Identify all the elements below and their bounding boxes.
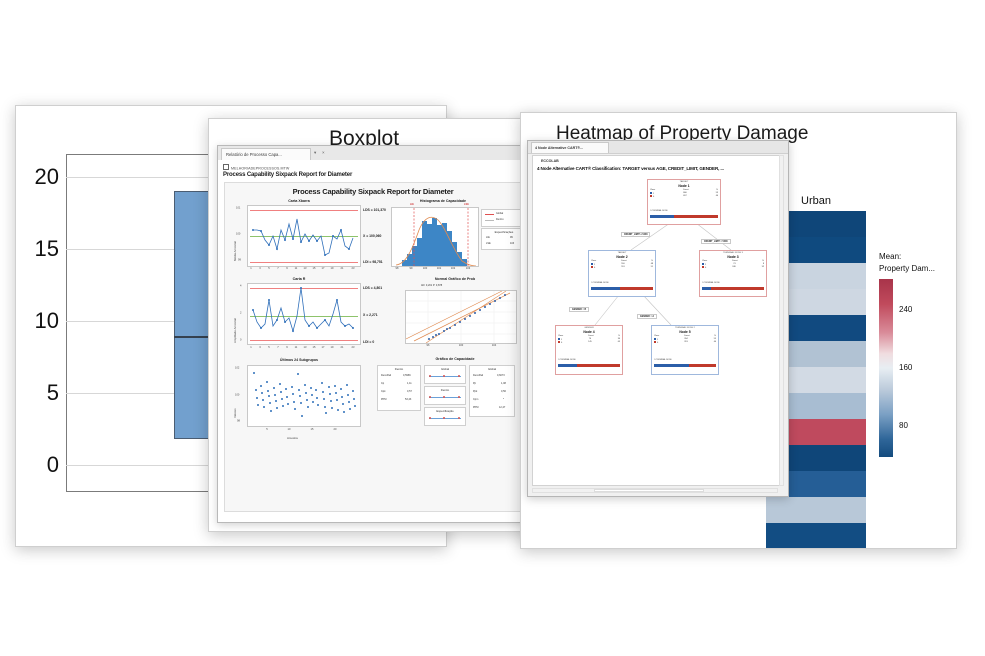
- spec-lie-value: 99: [510, 236, 513, 239]
- xbar-ytick-99: 99: [238, 259, 241, 262]
- xbar-xtick-19: 19: [331, 267, 334, 270]
- dentro-marker-hi: [458, 396, 460, 398]
- cart-node-3-bar: [702, 287, 764, 290]
- within-sd-value: 0,5966: [403, 374, 411, 377]
- global-sd-label: DesvPad: [473, 374, 483, 377]
- dentro-marker-lo: [429, 396, 431, 398]
- cart-node-3-terminal-label: % TERMINAL NODE: [702, 282, 720, 284]
- xbar-xtick-5: 5: [268, 267, 269, 270]
- rchart-ytick-0: 0: [240, 339, 241, 342]
- cart-node-4[interactable]: GENDER Node 4 ClassCount% 17634 014565 %…: [555, 325, 623, 375]
- global-ppm-label: PPM: [473, 406, 478, 409]
- heatmap-legend-colorbar: [879, 279, 893, 457]
- xbar-center-label: X = 100,060: [363, 234, 381, 238]
- rchart-xtick-7: 7: [277, 346, 278, 349]
- cart-node-5-r0-class: 1: [657, 339, 658, 341]
- global-cpm-label: Cpm: [473, 398, 478, 401]
- y-tick-5: 5: [47, 380, 59, 406]
- xbar-ytick-101: 101: [236, 207, 240, 210]
- global-marker-lo-1: [429, 375, 431, 377]
- lastsub-ylabel: Valores: [233, 408, 237, 418]
- probplot-plot[interactable]: [405, 290, 517, 344]
- histogram-marker-lse: LSE: [464, 203, 469, 206]
- cart-node-5-r1-count: 313: [684, 341, 687, 345]
- spec-lse-label: LSE: [486, 242, 491, 245]
- hist-xtick-99: 99: [410, 267, 413, 270]
- within-ppm-label: PPM: [381, 398, 386, 401]
- global-ppm-value: 12,47: [499, 406, 505, 409]
- within-ppm-value: 53,43: [405, 398, 411, 401]
- global-ppk-value: 0,56: [501, 390, 506, 393]
- xbar-ylabel: Média Amostral: [233, 241, 237, 261]
- cart-node-3-r1-count: 246: [732, 266, 735, 270]
- hist-xtick-102: 102: [451, 267, 455, 270]
- lastsub-ytick-102: 102: [235, 367, 239, 370]
- card-heatmap[interactable]: Heatmap of Property Damage Urban Mean: P…: [520, 112, 957, 549]
- global-sd-value: 0,6073: [497, 374, 505, 377]
- global-title-2: Global: [470, 367, 514, 371]
- cart-split-label-4: GENDER = A: [637, 314, 657, 319]
- y-tick-10: 10: [35, 308, 59, 334]
- cart-node-2-r0-class: 1: [594, 264, 595, 266]
- cart-node-5-caption: TERMINAL NODE 2: [652, 327, 718, 329]
- spec-lse-value: 103: [510, 242, 514, 245]
- xbar-xtick-15: 15: [313, 267, 316, 270]
- cart-node-3-name: Node 3: [700, 255, 766, 259]
- rchart-xtick-17: 17: [322, 346, 325, 349]
- cart-node-2-r1-class: 0: [594, 267, 595, 269]
- cart-tabbar: 4 Node Alternative CART®...: [528, 141, 788, 154]
- cart-node-2-bar: [591, 287, 653, 290]
- rchart-xtick-21: 21: [341, 346, 344, 349]
- rchart-ytick-2: 2: [240, 312, 241, 315]
- prob-xtick-100: 100: [459, 344, 463, 347]
- xbar-xtick-17: 17: [322, 267, 325, 270]
- rchart-series: [248, 284, 360, 344]
- capability-within-box: Dentro DesvPad 0,5966 Cp 1,11 Cpk 0,57 P…: [377, 365, 421, 411]
- worksheet-icon: [223, 164, 229, 170]
- capability-global-box-1: Global: [424, 365, 466, 384]
- within-title: Dentro: [378, 367, 420, 371]
- rchart-xtick-5: 5: [268, 346, 269, 349]
- cart-node-4-r1-count: 145: [588, 341, 591, 345]
- rchart-xtick-11: 11: [295, 346, 298, 349]
- rchart-xtick-23: 23: [352, 346, 355, 349]
- rchart-xtick-3: 3: [259, 346, 260, 349]
- spec-bar: [429, 418, 461, 419]
- cart-split-label-1: CREDIT_LIMIT ≤ 5448: [621, 232, 650, 237]
- rchart-xtick-15: 15: [313, 346, 316, 349]
- lastsub-points: [248, 366, 360, 426]
- rchart-xtick-1: 1: [250, 346, 251, 349]
- cart-node-4-r1-class: 0: [561, 342, 562, 344]
- rchart-lcl-label: LDI = 0: [363, 340, 374, 344]
- lastsub-plot[interactable]: [247, 365, 361, 427]
- rchart-plot[interactable]: [247, 283, 361, 345]
- hist-xtick-101: 101: [437, 267, 441, 270]
- probplot-subtitle: AD: 0,201 P: 0,878: [421, 284, 442, 287]
- dentro-bar: [429, 397, 461, 398]
- rchart-center-label: X = 2,271: [363, 313, 378, 317]
- dentro-title: Dentro: [425, 388, 465, 392]
- legend-swatch-global: [485, 214, 494, 215]
- xbar-lcl-label: LDI = 98,751: [363, 260, 383, 264]
- capability-spec-title: Especificação: [425, 409, 465, 413]
- histogram-title: Histograma de Capacidade: [383, 199, 503, 203]
- cart-node-1-caption: TARGET: [648, 181, 720, 183]
- xbar-xtick-13: 13: [304, 267, 307, 270]
- cart-split-label-2: CREDIT_LIMIT > 5448: [701, 239, 731, 244]
- y-tick-20: 20: [35, 164, 59, 190]
- spec-lie-label: LIE: [486, 236, 490, 239]
- hist-xtick-100: 100: [423, 267, 427, 270]
- cart-node-2-r1-pct: 51: [651, 266, 653, 270]
- cart-node-2-terminal-label: % TERMINAL NODE: [591, 282, 609, 284]
- heatmap-legend-title-line2: Property Dam...: [879, 263, 935, 274]
- cart-vertical-scrollbar[interactable]: [779, 155, 784, 486]
- cart-node-3-r1-pct: 92: [762, 266, 764, 270]
- prob-xtick-104: 104: [492, 344, 496, 347]
- capability-global-box-2: Global DesvPad 0,6073 Pp 1,08 Ppk 0,56 C…: [469, 365, 515, 417]
- xbar-xtick-1: 1: [250, 267, 251, 270]
- y-tick-0: 0: [47, 452, 59, 478]
- cart-dataset-label: ECCOLAB: [541, 159, 559, 163]
- xbar-xtick-23: 23: [352, 267, 355, 270]
- spec-marker-lo: [429, 417, 431, 419]
- lastsub-ytick-100: 100: [235, 394, 239, 397]
- cart-node-3[interactable]: TERMINAL NODE 3 Node 3 ClassCount% 1218 …: [699, 250, 767, 297]
- probplot-title: Normal Gráfico de Prob: [395, 277, 515, 281]
- legend-swatch-dentro: [485, 220, 494, 221]
- heatmap-legend-tick-240: 240: [899, 305, 912, 314]
- tab-process-report[interactable]: Relatório de Processo Capa...: [221, 148, 311, 161]
- rchart-ylabel: Amplitude Amostral: [233, 318, 237, 343]
- xbar-xtick-11: 11: [295, 267, 298, 270]
- heatmap-legend-tick-80: 80: [899, 421, 908, 430]
- global-cpm-value: *: [503, 398, 504, 401]
- cart-node-4-caption: GENDER: [556, 327, 622, 329]
- cart-node-1[interactable]: TARGET Node 1 ClassCount% 180053 069746 …: [647, 179, 721, 225]
- dentro-marker-mid: [443, 396, 445, 398]
- cart-node-5[interactable]: TERMINAL NODE 2 Node 5 ClassCount% 13945…: [651, 325, 719, 375]
- cart-node-3-table: ClassCount% 1218 024692: [702, 260, 764, 270]
- cart-node-3-r0-class: 1: [705, 264, 706, 266]
- global-bar-1: [429, 376, 461, 377]
- global-pp-label: Pp: [473, 382, 476, 385]
- global-ppk-label: Ppk: [473, 390, 477, 393]
- tab-caret-icon[interactable]: ▾: [314, 150, 316, 156]
- lastsub-title: Últimos 24 Subgrupos: [239, 358, 359, 362]
- report-heading: Process Capability Sixpack Report for Di…: [223, 172, 352, 178]
- cart-node-3-caption: TERMINAL NODE 3: [700, 252, 766, 254]
- xbar-title: Carta Xbarra: [239, 199, 359, 203]
- cart-node-5-table: ClassCount% 139455 031344: [654, 335, 716, 345]
- cart-node-2-caption: TARGET: [589, 252, 655, 254]
- heatmap-cell-12[interactable]: [766, 497, 866, 523]
- cart-split-label-3: GENDER = B: [569, 307, 589, 312]
- spec-marker-mid: [443, 417, 445, 419]
- sixpack-panel-title: Process Capability Sixpack Report for Di…: [225, 187, 521, 196]
- probplot-series: [406, 291, 516, 343]
- cart-node-4-bar: [558, 364, 620, 367]
- histogram-bars: [392, 208, 478, 266]
- cart-node-4-terminal-label: % TERMINAL NODE: [558, 359, 576, 361]
- cart-node-1-r0-class: 1: [653, 193, 654, 195]
- cart-node-2-name: Node 2: [589, 255, 655, 259]
- cart-document[interactable]: ECCOLAB 4 Node Alternative CART® Classif…: [532, 155, 784, 486]
- cart-node-4-table: ClassCount% 17634 014565: [558, 335, 620, 345]
- cart-window[interactable]: 4 Node Alternative CART®... ECCOLAB 4 No…: [527, 140, 789, 497]
- cart-node-4-name: Node 4: [556, 330, 622, 334]
- global-title-1: Global: [425, 367, 465, 371]
- heatmap-legend-title-line1: Mean:: [879, 251, 901, 262]
- cart-node-5-name: Node 5: [652, 330, 718, 334]
- global-pp-value: 1,08: [501, 382, 506, 385]
- xbar-xtick-7: 7: [277, 267, 278, 270]
- legend-label-global: Global: [496, 212, 503, 215]
- within-cpk-label: Cpk: [381, 390, 385, 393]
- lastsub-ytick-98: 98: [237, 420, 240, 423]
- within-cpk-value: 0,57: [407, 390, 412, 393]
- cart-horizontal-scrollbar[interactable]: [532, 488, 778, 493]
- histogram-marker-lie: LIE: [410, 203, 414, 206]
- cart-node-1-r1-class: 0: [653, 196, 654, 198]
- heatmap-cell-13[interactable]: [766, 523, 866, 549]
- cart-tree-canvas[interactable]: TARGET Node 1 ClassCount% 180053 069746 …: [533, 175, 783, 485]
- lastsub-xtick-5: 5: [266, 428, 267, 431]
- hist-xtick-103: 103: [466, 267, 470, 270]
- cart-node-4-r0-class: 1: [561, 339, 562, 341]
- prob-xtick-96: 96: [427, 344, 430, 347]
- lastsub-xtick-15: 15: [311, 428, 314, 431]
- global-marker-hi-1: [458, 375, 460, 377]
- xbar-xtick-9: 9: [286, 267, 287, 270]
- cart-node-1-r1-pct: 46: [716, 195, 718, 199]
- xbar-series: [248, 206, 360, 266]
- worksheet-row: MELHORIADEPROCESSOS.MTW: [223, 164, 289, 171]
- card-minitab-report[interactable]: Boxplot Relatório de Processo Capa... ▾ …: [208, 118, 540, 532]
- histogram-plot[interactable]: [391, 207, 479, 267]
- global-marker-mid-1: [443, 375, 445, 377]
- xbar-xtick-3: 3: [259, 267, 260, 270]
- capability-spec-box: Especificação: [424, 407, 466, 426]
- xbar-ucl-label: LDS = 101,370: [363, 208, 386, 212]
- within-cp-value: 1,11: [407, 382, 412, 385]
- within-cp-label: Cp: [381, 382, 384, 385]
- cart-node-1-terminal-label: % TERMINAL NODE: [650, 210, 668, 212]
- slide-canvas: Boxplot 0 5 10 15 20 1 Boxplot: [0, 0, 985, 656]
- hist-xtick-98: 98: [396, 267, 399, 270]
- cart-heading: 4 Node Alternative CART® Classification:…: [537, 166, 724, 171]
- xbar-xtick-21: 21: [341, 267, 344, 270]
- cart-node-5-r1-pct: 44: [714, 341, 716, 345]
- cart-node-2-r1-count: 551: [621, 266, 624, 270]
- capability-dentro-box: Dentro: [424, 386, 466, 405]
- minitab-document[interactable]: MELHORIADEPROCESSOS.MTW Process Capabili…: [218, 160, 528, 522]
- capability-title: Gráfico de Capacidade: [395, 357, 515, 361]
- rchart-xtick-19: 19: [331, 346, 334, 349]
- cart-node-1-bar: [650, 215, 718, 218]
- cart-node-1-name: Node 1: [648, 184, 720, 188]
- tab-cart-classification[interactable]: 4 Node Alternative CART®...: [531, 142, 609, 153]
- sixpack-panel: Process Capability Sixpack Report for Di…: [224, 182, 522, 512]
- cart-node-5-r1-class: 0: [657, 342, 658, 344]
- cart-node-5-terminal-label: % TERMINAL NODE: [654, 359, 672, 361]
- rchart-ytick-4: 4: [240, 285, 241, 288]
- worksheet-name: MELHORIADEPROCESSOS.MTW: [231, 167, 289, 171]
- cart-node-5-bar: [654, 364, 716, 367]
- lastsub-xtick-20: 20: [334, 428, 337, 431]
- xbar-ytick-100: 100: [236, 233, 240, 236]
- lastsub-xlabel: Amostra: [287, 436, 298, 440]
- rchart-xtick-9: 9: [286, 346, 287, 349]
- rchart-ucl-label: LDS = 4,801: [363, 286, 382, 290]
- cart-node-2-table: ClassCount% 151048 055151: [591, 260, 653, 270]
- legend-label-dentro: Dentro: [496, 218, 504, 221]
- spec-marker-hi: [458, 417, 460, 419]
- xbar-plot[interactable]: [247, 205, 361, 267]
- cart-node-3-r1-class: 0: [705, 267, 706, 269]
- y-tick-15: 15: [35, 236, 59, 262]
- rchart-xtick-13: 13: [304, 346, 307, 349]
- cart-node-1-r1-count: 697: [683, 195, 686, 199]
- lastsub-xtick-10: 10: [288, 428, 291, 431]
- cart-node-2[interactable]: TARGET Node 2 ClassCount% 151048 055151 …: [588, 250, 656, 297]
- cart-node-4-r1-pct: 65: [618, 341, 620, 345]
- tab-close-icon[interactable]: ×: [322, 150, 325, 155]
- heatmap-legend-tick-160: 160: [899, 363, 912, 372]
- cart-node-1-table: ClassCount% 180053 069746: [650, 189, 718, 199]
- cart-horizontal-scroll-thumb[interactable]: [594, 489, 704, 492]
- rchart-title: Carta R: [239, 277, 359, 281]
- minitab-window[interactable]: Relatório de Processo Capa... ▾ × MELHOR…: [217, 145, 529, 523]
- minitab-tabbar: Relatório de Processo Capa... ▾ ×: [218, 146, 528, 161]
- within-sd-label: DesvPad: [381, 374, 391, 377]
